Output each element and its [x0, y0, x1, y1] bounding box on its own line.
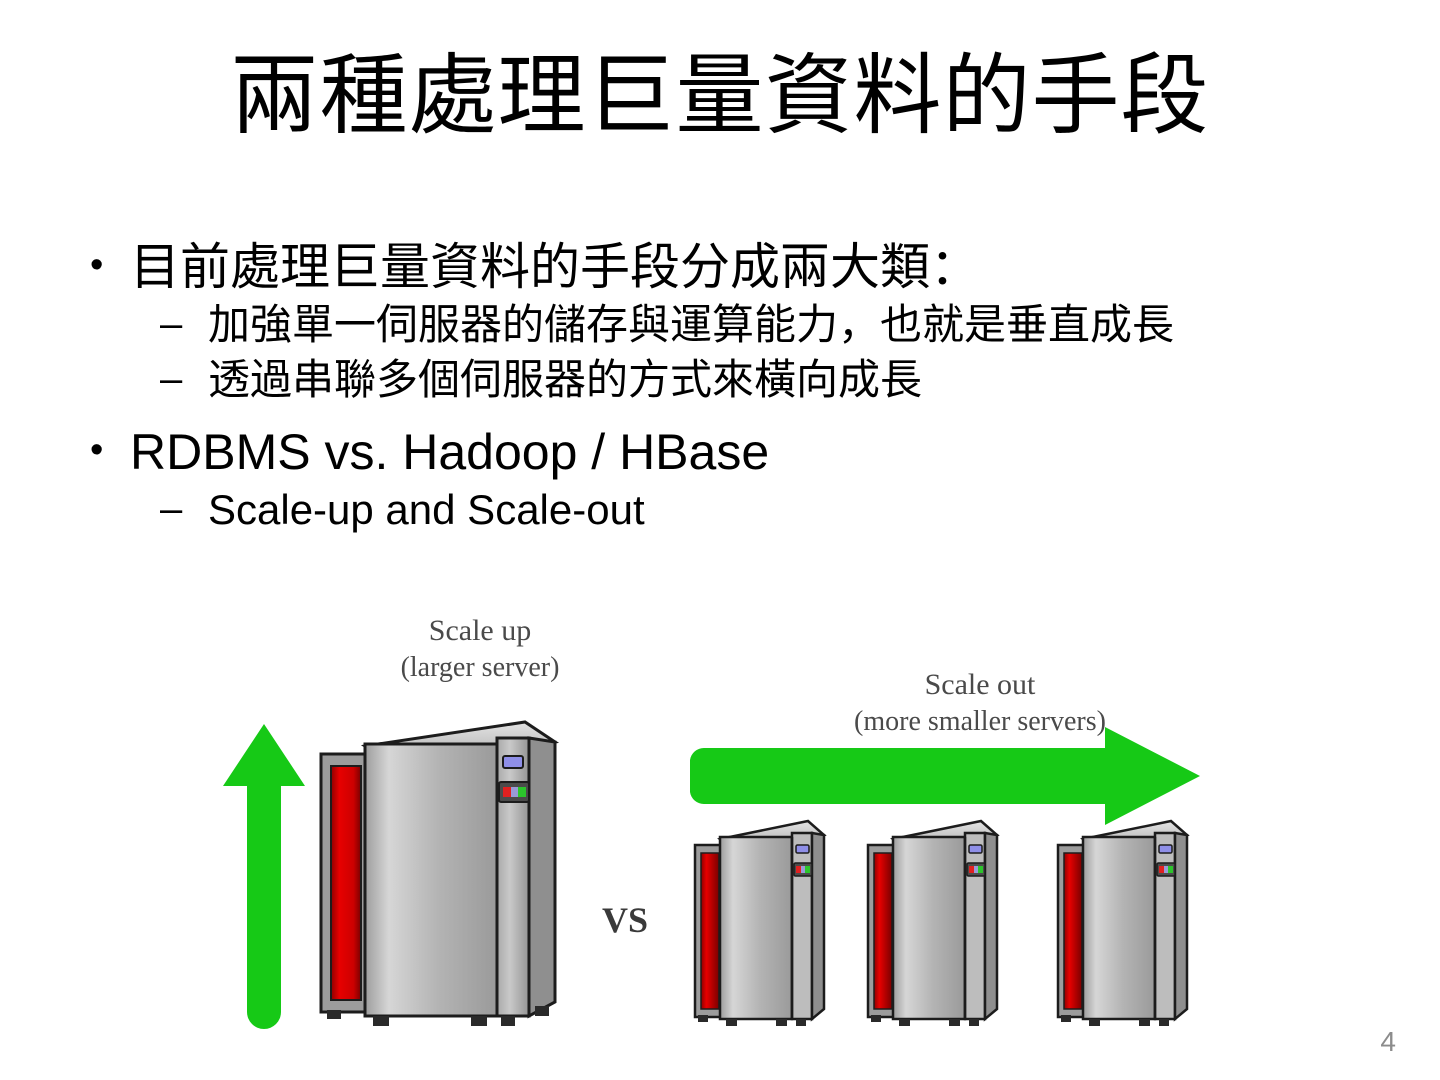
- small-server-tower-icon-3: [1053, 817, 1193, 1029]
- sub-bullet-item-2-1: – Scale-up and Scale-out: [160, 483, 1408, 538]
- sub-bullet-text-1-2: 透過串聯多個伺服器的方式來橫向成長: [208, 353, 1408, 408]
- dash-marker-icon: –: [160, 298, 208, 350]
- scale-up-vs-scale-out-diagram: Scale up (larger server) Scale out (more…: [185, 604, 1245, 1034]
- bullet-text-2: RDBMS vs. Hadoop / HBase: [130, 423, 1408, 481]
- slide-body: • 目前處理巨量資料的手段分成兩大類： – 加強單一伺服器的儲存與運算能力，也就…: [78, 238, 1408, 538]
- small-server-tower-icon-2: [863, 817, 1003, 1029]
- sub-bullet-item-1-2: – 透過串聯多個伺服器的方式來橫向成長: [160, 353, 1408, 408]
- bullet-text-1: 目前處理巨量資料的手段分成兩大類：: [130, 238, 1408, 296]
- sub-bullet-text-2-1: Scale-up and Scale-out: [208, 483, 1408, 538]
- bullet-marker-icon: •: [78, 238, 130, 293]
- sub-bullet-item-1-1: – 加強單一伺服器的儲存與運算能力，也就是垂直成長: [160, 298, 1408, 353]
- page-title: 兩種處理巨量資料的手段: [0, 48, 1440, 143]
- versus-label: VS: [580, 899, 670, 941]
- scale-up-caption-sub: (larger server): [335, 650, 625, 685]
- scale-up-caption-main: Scale up: [335, 612, 625, 650]
- right-arrow-icon: [690, 727, 1200, 825]
- up-arrow-icon: [223, 724, 305, 1029]
- sub-bullet-text-1-1: 加強單一伺服器的儲存與運算能力，也就是垂直成長: [208, 298, 1408, 353]
- small-server-tower-icon-1: [690, 817, 830, 1029]
- page-number: 4: [1380, 1026, 1396, 1058]
- bullet-item-2: • RDBMS vs. Hadoop / HBase: [78, 423, 1408, 481]
- large-server-tower-icon: [313, 716, 563, 1028]
- bullet-group-spacer: [78, 407, 1408, 423]
- scale-out-caption-main: Scale out: [745, 666, 1215, 704]
- dash-marker-icon: –: [160, 353, 208, 405]
- bullet-item-1: • 目前處理巨量資料的手段分成兩大類：: [78, 238, 1408, 296]
- dash-marker-icon: –: [160, 483, 208, 535]
- scale-up-caption: Scale up (larger server): [335, 612, 625, 685]
- bullet-marker-icon: •: [78, 423, 130, 478]
